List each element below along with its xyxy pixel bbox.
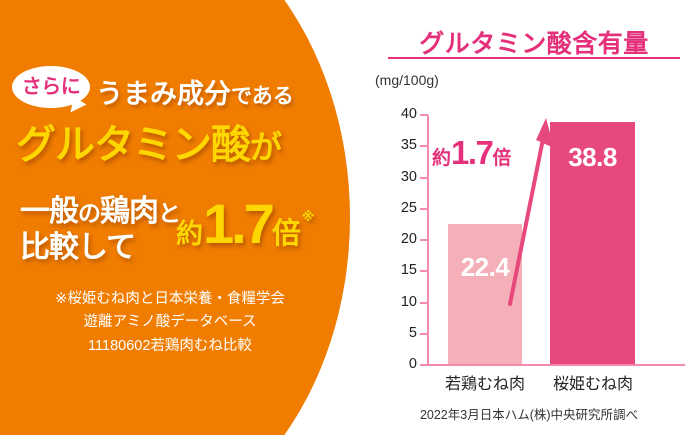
y-tick-label-15: 15 <box>383 263 417 278</box>
y-tick-20 <box>420 239 428 241</box>
y-tick-35 <box>420 145 428 147</box>
headline-ratio-number: 1.7 <box>203 192 272 255</box>
y-tick-30 <box>420 177 428 179</box>
sarani-badge-label: さらに <box>22 77 81 97</box>
sarani-badge: さらに <box>12 66 90 108</box>
infographic-canvas: さらに うまみ成分である グルタミン酸が 一般の鶏肉と 比較して 約1.7倍※ … <box>0 0 700 435</box>
y-tick-5 <box>420 333 428 335</box>
headline-line-4: 比較して <box>20 222 135 266</box>
y-tick-25 <box>420 208 428 210</box>
headline-ratio-asterisk: ※ <box>302 209 315 224</box>
headline-line-1-tail: である <box>231 85 294 108</box>
category-label-0: 若鶏むね肉 <box>432 370 538 394</box>
headline-ratio: 約1.7倍※ <box>176 196 314 252</box>
y-tick-10 <box>420 302 428 304</box>
chart-ratio-suffix: 倍 <box>492 148 511 169</box>
headline-line-1-main: うまみ成分 <box>96 79 231 109</box>
footnote-line-1: ※桜姫むね肉と日本栄養・食糧学会 <box>0 288 340 311</box>
y-tick-label-40: 40 <box>383 107 417 122</box>
chart-ratio-prefix: 約 <box>432 148 451 169</box>
y-tick-15 <box>420 270 428 272</box>
footnote-line-2: 遊離アミノ酸データベース <box>0 311 340 334</box>
headline-line-1: うまみ成分である <box>96 72 294 111</box>
chart-ratio-annotation: 約1.7倍 <box>432 136 511 169</box>
y-tick-label-20: 20 <box>383 232 417 247</box>
chart-plot-area: 4035302520151050 約1.7倍 22.4 38.8 若鶏むね肉 桜… <box>370 0 700 435</box>
x-axis-line <box>427 364 685 366</box>
y-tick-label-25: 25 <box>383 201 417 216</box>
headline-ratio-suffix: 倍 <box>272 218 301 250</box>
y-tick-label-10: 10 <box>383 295 417 310</box>
bar-value-1: 38.8 <box>550 142 635 173</box>
footnote-line-3: 11180602若鶏肉むね比較 <box>0 335 340 358</box>
y-tick-label-0: 0 <box>383 357 417 372</box>
headline-line-2-main: グルタミン酸 <box>16 123 250 167</box>
headline-line-4-label: 比較して <box>20 231 135 264</box>
chart-ratio-number: 1.7 <box>451 134 492 171</box>
category-label-1: 桜姫むね肉 <box>538 370 648 394</box>
headline-line-2: グルタミン酸が <box>16 112 281 170</box>
y-tick-0 <box>420 364 428 366</box>
y-tick-label-35: 35 <box>383 138 417 153</box>
y-tick-label-5: 5 <box>383 326 417 341</box>
promo-footnote: ※桜姫むね肉と日本栄養・食糧学会 遊離アミノ酸データベース 11180602若鶏… <box>0 288 340 358</box>
headline-ratio-prefix: 約 <box>176 219 203 249</box>
chart-panel: グルタミン酸含有量 (mg/100g) 4035302520151050 約1.… <box>370 0 700 435</box>
y-tick-40 <box>420 114 428 116</box>
y-tick-label-30: 30 <box>383 170 417 185</box>
headline-line-2-tail: が <box>250 129 281 165</box>
bar-sakurahime-chicken[interactable]: 38.8 <box>550 122 635 365</box>
chart-source-note: 2022年3月日本ハム(株)中央研究所調べ <box>370 404 688 423</box>
